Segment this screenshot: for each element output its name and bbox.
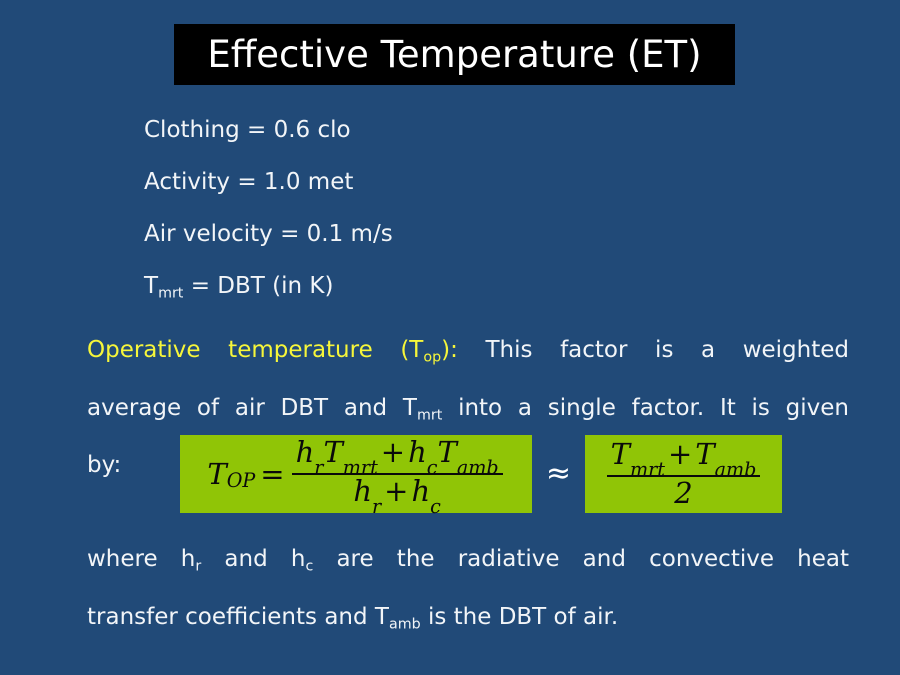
equation-simplified-average: Tmrt+Tamb 2 xyxy=(605,440,763,508)
fraction-denominator: hr+hc xyxy=(349,475,445,510)
term-tamb-base: T xyxy=(437,435,456,469)
term-tmrt-base: T xyxy=(323,435,342,469)
highlight-operative-temperature-subscript: op xyxy=(423,350,441,366)
term-hr-base: h xyxy=(296,435,315,469)
where-text-e: is the DBT of air. xyxy=(421,604,619,630)
paragraph-line-2-subscript: mrt xyxy=(417,407,442,423)
fraction-simple-average: Tmrt+Tamb 2 xyxy=(607,440,761,508)
parameter-tmrt-subscript: mrt xyxy=(158,286,183,302)
parameter-air-velocity: Air velocity = 0.1 m/s xyxy=(144,221,393,247)
denominator-plus-sign: + xyxy=(381,474,411,508)
slide-canvas: Effective Temperature (ET) Clothing = 0.… xyxy=(0,0,900,675)
equation-box-simplified-average: Tmrt+Tamb 2 xyxy=(585,435,782,513)
equals-sign: = xyxy=(255,460,289,489)
term-hc-base: h xyxy=(408,435,427,469)
fraction-numerator: hrTmrt+hcTamb xyxy=(292,438,503,475)
equation-lhs-base: T xyxy=(207,460,226,489)
plus-sign: + xyxy=(378,435,408,469)
where-text-d: transfer coefficients and T xyxy=(87,604,389,630)
highlight-operative-temperature-suffix: ): xyxy=(441,337,458,363)
fraction-weighted-average: hrTmrt+hcTamb hr+hc xyxy=(292,438,503,510)
coefficients-explanation-paragraph: where hr and hc are the radiative and co… xyxy=(87,534,849,649)
approximately-equal-icon: ≈ xyxy=(532,459,585,489)
paragraph-line-2: transfer coefficients and Tamb is the DB… xyxy=(87,592,849,650)
where-text-b: and h xyxy=(201,546,305,572)
equation-box-operative-temperature: TOP= hrTmrt+hcTamb hr+hc xyxy=(180,435,532,513)
where-text-a: where h xyxy=(87,546,195,572)
term-hc-subscript: c xyxy=(427,458,438,477)
term-tamb-base: T xyxy=(695,437,714,471)
denominator-hr-subscript: r xyxy=(372,497,381,516)
highlight-operative-temperature-prefix: Operative temperature (T xyxy=(87,337,423,363)
term-hr-subscript: r xyxy=(314,458,323,477)
list-item: Activity = 1.0 met xyxy=(144,156,784,208)
denominator-hc-base: h xyxy=(411,474,430,508)
list-item: Air velocity = 0.1 m/s xyxy=(144,208,784,260)
parameter-tmrt-rest: = DBT (in K) xyxy=(183,273,333,299)
term-tmrt-subscript: mrt xyxy=(343,458,378,477)
equation-lhs-subscript: OP xyxy=(227,471,256,490)
term-tamb-subscript: amb xyxy=(715,460,757,479)
parameter-activity: Activity = 1.0 met xyxy=(144,169,353,195)
plus-sign: + xyxy=(665,437,695,471)
paragraph-line-2: average of air DBT and Tmrt into a singl… xyxy=(87,383,849,441)
paragraph-line-2-b: into a single factor. It is given xyxy=(442,395,849,421)
where-tamb-subscript: amb xyxy=(389,616,421,632)
fraction-numerator: Tmrt+Tamb xyxy=(607,440,761,477)
list-item: Clothing = 0.6 clo xyxy=(144,104,784,156)
parameter-tmrt-base: T xyxy=(144,273,158,299)
fraction-denominator: 2 xyxy=(670,477,696,508)
list-item: Tmrt = DBT (in K) xyxy=(144,260,784,312)
denominator-hr-base: h xyxy=(353,474,372,508)
paragraph-line-1: Operative temperature (Top): This factor… xyxy=(87,325,849,383)
term-tamb-subscript: amb xyxy=(457,458,499,477)
parameter-list: Clothing = 0.6 clo Activity = 1.0 met Ai… xyxy=(144,104,784,312)
where-text-c: are the radiative and convective heat xyxy=(313,546,849,572)
term-tmrt-subscript: mrt xyxy=(630,460,665,479)
slide-title-box: Effective Temperature (ET) xyxy=(174,24,735,85)
paragraph-line-1-rest: This factor is a weighted xyxy=(458,337,849,363)
paragraph-line-1: where hr and hc are the radiative and co… xyxy=(87,534,849,592)
equation-row: TOP= hrTmrt+hcTamb hr+hc ≈ Tmrt+Tamb 2 xyxy=(180,435,790,513)
paragraph-line-2-a: average of air DBT and T xyxy=(87,395,417,421)
equation-operative-temperature: TOP= hrTmrt+hcTamb hr+hc xyxy=(207,438,504,510)
term-tmrt-base: T xyxy=(611,437,630,471)
page-title: Effective Temperature (ET) xyxy=(207,36,701,73)
parameter-clothing: Clothing = 0.6 clo xyxy=(144,117,351,143)
denominator-hc-subscript: c xyxy=(430,497,441,516)
